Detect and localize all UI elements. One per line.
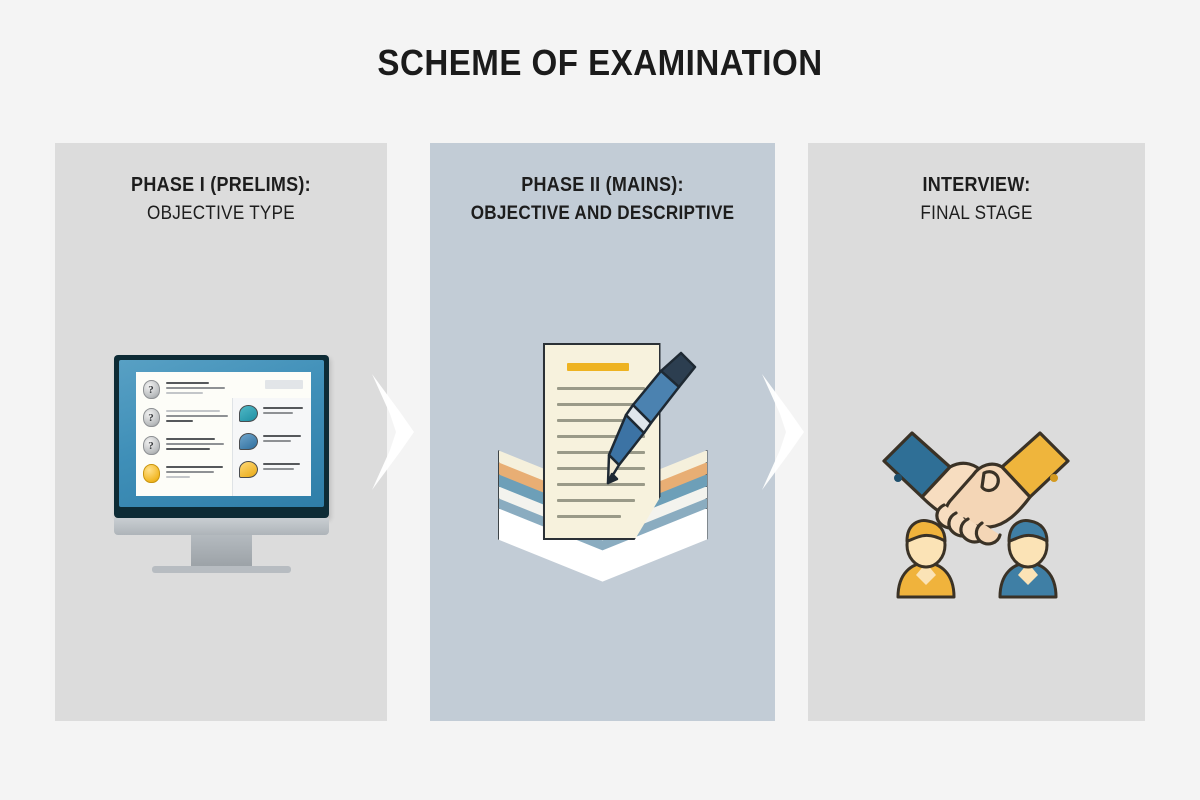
panel-interview-label-line1: INTERVIEW: (922, 174, 1030, 196)
panel-phase-1[interactable]: PHASE I (PRELIMS): OBJECTIVE TYPE ? (55, 143, 387, 721)
pen-icon (603, 347, 699, 497)
monitor-stand-base (152, 566, 291, 573)
panel-phase-2-label: PHASE II (MAINS): OBJECTIVE AND DESCRIPT… (447, 171, 758, 228)
quiz-question-row: ? (143, 380, 228, 399)
panel-interview-label-line2: FINAL STAGE (825, 200, 1128, 228)
question-text-lines (166, 436, 228, 453)
chevron-right-arrow-icon (370, 372, 416, 492)
panel-phase-2[interactable]: PHASE II (MAINS): OBJECTIVE AND DESCRIPT… (430, 143, 775, 721)
page-title: SCHEME OF EXAMINATION (48, 42, 1152, 84)
monitor-stand-neck (191, 535, 252, 568)
monitor-frame: ? ? (114, 355, 329, 518)
panel-interview[interactable]: INTERVIEW: FINAL STAGE (808, 143, 1145, 721)
quiz-answer-column (232, 398, 311, 496)
question-text-lines (166, 408, 228, 425)
panel-phase-2-label-line2: OBJECTIVE AND DESCRIPTIVE (447, 200, 758, 228)
monitor-bezel: ? ? (119, 360, 324, 507)
speech-bubble-row (239, 433, 307, 450)
speech-bubble-icon (239, 433, 258, 450)
bubble-text-lines (263, 461, 307, 473)
panel-phase-1-label: PHASE I (PRELIMS): OBJECTIVE TYPE (72, 171, 371, 228)
question-mark-icon: ? (143, 408, 160, 427)
avatar-right-person (1000, 521, 1056, 597)
speech-bubble-icon (239, 405, 258, 422)
chevron-right-arrow-icon (760, 372, 806, 492)
speech-bubble-icon (239, 461, 258, 478)
monitor-chin (114, 518, 329, 535)
answer-text-lines (166, 464, 228, 481)
monitor-screen: ? ? (136, 372, 311, 496)
question-mark-icon: ? (143, 436, 160, 455)
quiz-question-row: ? (143, 408, 228, 427)
panel-interview-label: INTERVIEW: FINAL STAGE (825, 171, 1128, 228)
quiz-question-row: ? (143, 436, 228, 455)
answer-highlight-icon (143, 464, 160, 483)
panel-phase-2-label-line1: PHASE II (MAINS): (521, 174, 684, 196)
speech-bubble-row (239, 461, 307, 478)
speech-bubble-row (239, 405, 307, 422)
scheme-of-examination-infographic: SCHEME OF EXAMINATION PHASE I (PRELIMS):… (0, 0, 1200, 800)
computer-monitor-quiz-icon: ? ? (55, 355, 387, 575)
avatar-left-person (898, 521, 954, 597)
quiz-answer-row (143, 464, 228, 483)
panel-phase-1-label-line2: OBJECTIVE TYPE (72, 200, 371, 228)
screen-header-block (265, 380, 303, 389)
question-mark-icon: ? (143, 380, 160, 399)
bubble-text-lines (263, 405, 307, 417)
quiz-question-column: ? ? (136, 372, 232, 496)
question-text-lines (166, 380, 228, 397)
document-and-pen-icon (430, 335, 775, 603)
handshake-icon (808, 409, 1145, 599)
bubble-text-lines (263, 433, 307, 445)
panel-phase-1-label-line1: PHASE I (PRELIMS): (131, 174, 311, 196)
